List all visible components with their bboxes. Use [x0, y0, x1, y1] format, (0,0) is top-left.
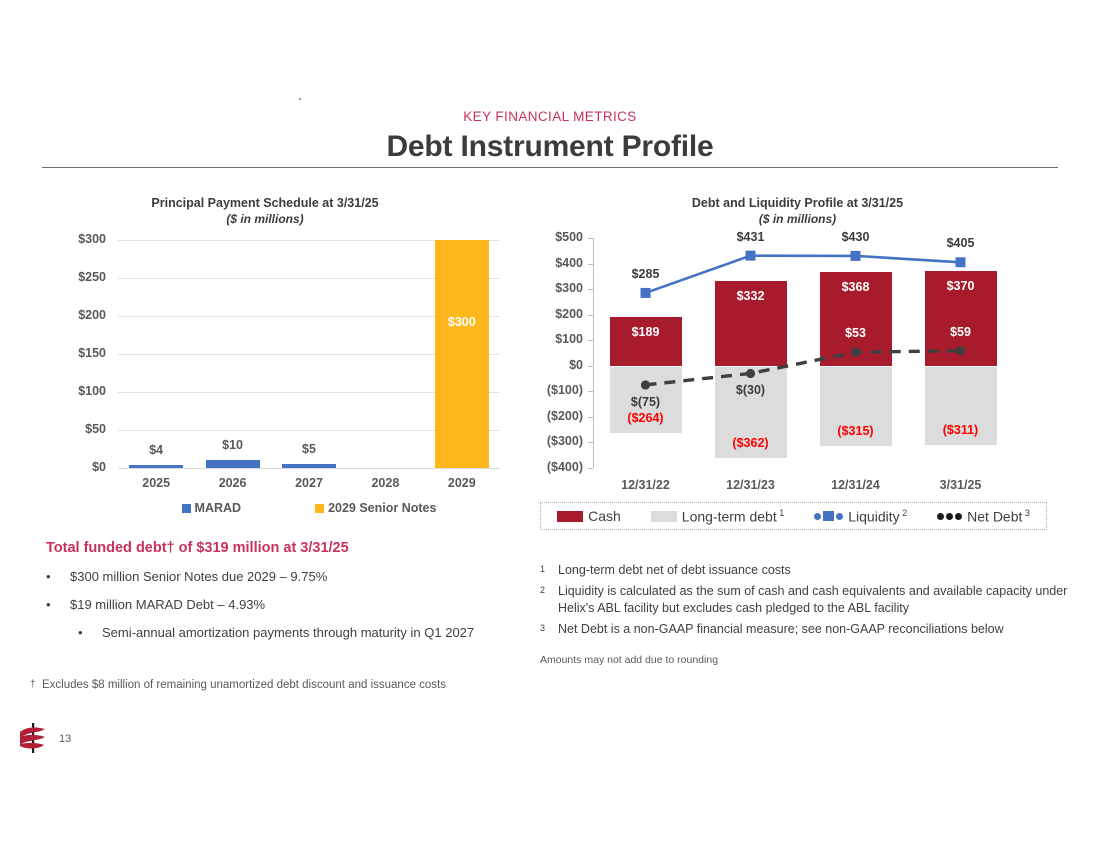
left-chart-bar-label: $10: [193, 438, 273, 452]
left-chart-plot-area: [118, 240, 500, 468]
bullet-item: •$19 million MARAD Debt – 4.93%: [46, 597, 516, 612]
page-number: 13: [59, 733, 71, 745]
page-title: Debt Instrument Profile: [0, 130, 1100, 164]
debt-bullet-list: •$300 million Senior Notes due 2029 – 9.…: [46, 569, 516, 640]
liquidity-marker: [851, 251, 861, 261]
right-chart-cash-label: $370: [916, 279, 1006, 293]
left-chart-y-tick: $250: [30, 270, 106, 284]
liquidity-marker: [641, 288, 651, 298]
left-chart-bar: [129, 465, 183, 468]
left-chart-y-tick: $100: [30, 384, 106, 398]
left-chart-subtitle: ($ in millions): [30, 212, 500, 227]
liquidity-line: [646, 256, 961, 293]
right-chart-y-tick: ($400): [535, 460, 583, 474]
legend-square-icon: [823, 511, 834, 521]
dagger-footnote: † Excludes $8 million of remaining unamo…: [30, 679, 446, 691]
bullet-marker-icon: •: [46, 597, 70, 612]
footnote-number: 2: [540, 583, 558, 617]
legend-dot-icon: [937, 513, 944, 520]
right-chart-legend-label: Liquidity 2: [848, 508, 907, 525]
right-chart-legend-entry: Cash: [557, 508, 621, 524]
left-chart-bar: [206, 460, 260, 468]
right-chart-legend-label: Long-term debt 1: [682, 508, 784, 525]
bullet-text: $300 million Senior Notes due 2029 – 9.7…: [70, 569, 327, 584]
left-chart-x-tick: 2029: [412, 476, 512, 490]
right-chart-y-tick: ($200): [535, 409, 583, 423]
legend-swatch-icon: [557, 511, 583, 522]
right-chart-debt-label: ($311): [916, 423, 1006, 437]
net-debt-value-label: $(75): [601, 395, 691, 409]
left-chart-y-tick: $200: [30, 308, 106, 322]
bullet-item: •Semi-annual amortization payments throu…: [46, 625, 516, 640]
slide-eyebrow: KEY FINANCIAL METRICS: [0, 109, 1100, 124]
right-chart-legend: CashLong-term debt 1Liquidity 2Net Debt …: [540, 502, 1047, 530]
net-debt-value-label: $(30): [706, 383, 796, 397]
left-chart-legend-entry: 2029 Senior Notes: [315, 501, 436, 515]
left-chart-legend-label: 2029 Senior Notes: [328, 501, 436, 515]
bullet-item: •$300 million Senior Notes due 2029 – 9.…: [46, 569, 516, 584]
right-chart-y-tick: $300: [535, 281, 583, 295]
right-chart-debt-label: ($362): [706, 436, 796, 450]
right-chart-debt-label: ($315): [811, 424, 901, 438]
net-debt-marker: [641, 380, 650, 389]
left-body-text: Total funded debt† of $319 million at 3/…: [46, 540, 516, 653]
right-chart-cash-label: $332: [706, 289, 796, 303]
legend-dot-icon: [955, 513, 962, 520]
left-chart-legend-label: MARAD: [195, 501, 242, 515]
right-chart-y-tick: $100: [535, 332, 583, 346]
right-chart-y-tick: $200: [535, 307, 583, 321]
left-chart-bar: [282, 464, 336, 468]
dagger-footnote-text: Excludes $8 million of remaining unamort…: [42, 679, 446, 691]
left-chart-titles: Principal Payment Schedule at 3/31/25 ($…: [30, 196, 500, 227]
right-chart-y-tick: $500: [535, 230, 583, 244]
bullet-text: Semi-annual amortization payments throug…: [102, 625, 474, 640]
right-chart-cash-label: $368: [811, 280, 901, 294]
left-chart-legend-entry: MARAD: [182, 501, 242, 515]
bullet-text: $19 million MARAD Debt – 4.93%: [70, 597, 265, 612]
right-chart-legend-entry: Long-term debt 1: [651, 508, 784, 525]
liquidity-value-label: $285: [601, 267, 691, 281]
right-chart-x-tick: 12/31/22: [586, 478, 706, 492]
legend-swatch-icon: [651, 511, 677, 522]
liquidity-value-label: $405: [916, 236, 1006, 250]
right-chart-legend-label: Cash: [588, 508, 621, 524]
net-debt-value-label: $59: [916, 325, 1006, 339]
legend-line-marker-icon: [937, 513, 962, 520]
right-chart-x-tick: 12/31/24: [796, 478, 916, 492]
right-chart-x-tick: 3/31/25: [901, 478, 1021, 492]
footnote-list: 1Long-term debt net of debt issuance cos…: [540, 562, 1075, 638]
legend-footnote-marker: 2: [900, 508, 908, 518]
left-chart-bar-label: $5: [269, 442, 349, 456]
net-debt-marker: [956, 346, 965, 355]
liquidity-marker: [746, 251, 756, 261]
right-chart-titles: Debt and Liquidity Profile at 3/31/25 ($…: [535, 196, 1060, 227]
left-chart-y-tick: $150: [30, 346, 106, 360]
net-debt-marker: [851, 348, 860, 357]
net-debt-marker: [746, 369, 755, 378]
left-chart-y-tick: $0: [30, 460, 106, 474]
footnote-text: Liquidity is calculated as the sum of ca…: [558, 583, 1075, 617]
right-chart-tickmark: [588, 468, 593, 469]
legend-line-marker-icon: [814, 511, 843, 521]
right-chart-debt-label: ($264): [601, 411, 691, 425]
right-chart-subtitle: ($ in millions): [535, 212, 1060, 227]
legend-swatch-icon: [182, 504, 191, 513]
principal-payment-schedule-chart: Principal Payment Schedule at 3/31/25 ($…: [30, 196, 500, 526]
company-logo: [18, 722, 48, 754]
left-chart-legend: MARAD2029 Senior Notes: [118, 501, 500, 515]
dagger-symbol: †: [30, 679, 42, 691]
left-chart-bar: [435, 240, 489, 468]
legend-dot-icon: [836, 513, 843, 520]
liquidity-value-label: $430: [811, 230, 901, 244]
right-footnotes: 1Long-term debt net of debt issuance cos…: [540, 562, 1075, 666]
footnote-text: Long-term debt net of debt issuance cost…: [558, 562, 791, 579]
footnote-item: 3Net Debt is a non-GAAP financial measur…: [540, 621, 1075, 638]
right-chart-y-tick: $400: [535, 256, 583, 270]
left-chart-axis-baseline: [118, 468, 500, 469]
right-chart-cash-label: $189: [601, 325, 691, 339]
debt-and-liquidity-profile-chart: Debt and Liquidity Profile at 3/31/25 ($…: [535, 196, 1060, 536]
bullet-marker-icon: •: [46, 569, 70, 584]
right-chart-y-tick: ($100): [535, 383, 583, 397]
legend-dot-icon: [814, 513, 821, 520]
stray-dot-artifact: [299, 98, 301, 100]
legend-dot-icon: [946, 513, 953, 520]
footnote-number: 3: [540, 621, 558, 638]
footnote-number: 1: [540, 562, 558, 579]
rounding-note: Amounts may not add due to rounding: [540, 654, 1075, 666]
right-chart-title: Debt and Liquidity Profile at 3/31/25: [535, 196, 1060, 212]
left-chart-title: Principal Payment Schedule at 3/31/25: [30, 196, 500, 212]
right-chart-legend-entry: Net Debt 3: [937, 508, 1030, 525]
right-chart-legend-entry: Liquidity 2: [814, 508, 907, 525]
left-chart-y-tick: $50: [30, 422, 106, 436]
liquidity-marker: [956, 257, 966, 267]
left-chart-bar-label: $300: [422, 315, 502, 329]
footnote-item: 2Liquidity is calculated as the sum of c…: [540, 583, 1075, 617]
liquidity-value-label: $431: [706, 230, 796, 244]
bullet-marker-icon: •: [78, 625, 102, 640]
legend-footnote-marker: 1: [777, 508, 785, 518]
right-chart-legend-label: Net Debt 3: [967, 508, 1030, 525]
legend-swatch-icon: [315, 504, 324, 513]
footnote-text: Net Debt is a non-GAAP financial measure…: [558, 621, 1004, 638]
net-debt-value-label: $53: [811, 326, 901, 340]
right-chart-y-tick: $0: [535, 358, 583, 372]
left-chart-y-tick: $300: [30, 232, 106, 246]
total-funded-debt-heading: Total funded debt† of $319 million at 3/…: [46, 540, 516, 556]
footnote-item: 1Long-term debt net of debt issuance cos…: [540, 562, 1075, 579]
title-divider: [42, 167, 1058, 168]
right-chart-x-tick: 12/31/23: [691, 478, 811, 492]
legend-footnote-marker: 3: [1022, 508, 1030, 518]
right-chart-y-tick: ($300): [535, 434, 583, 448]
left-chart-bar-label: $4: [116, 443, 196, 457]
net-debt-line: [646, 351, 961, 385]
